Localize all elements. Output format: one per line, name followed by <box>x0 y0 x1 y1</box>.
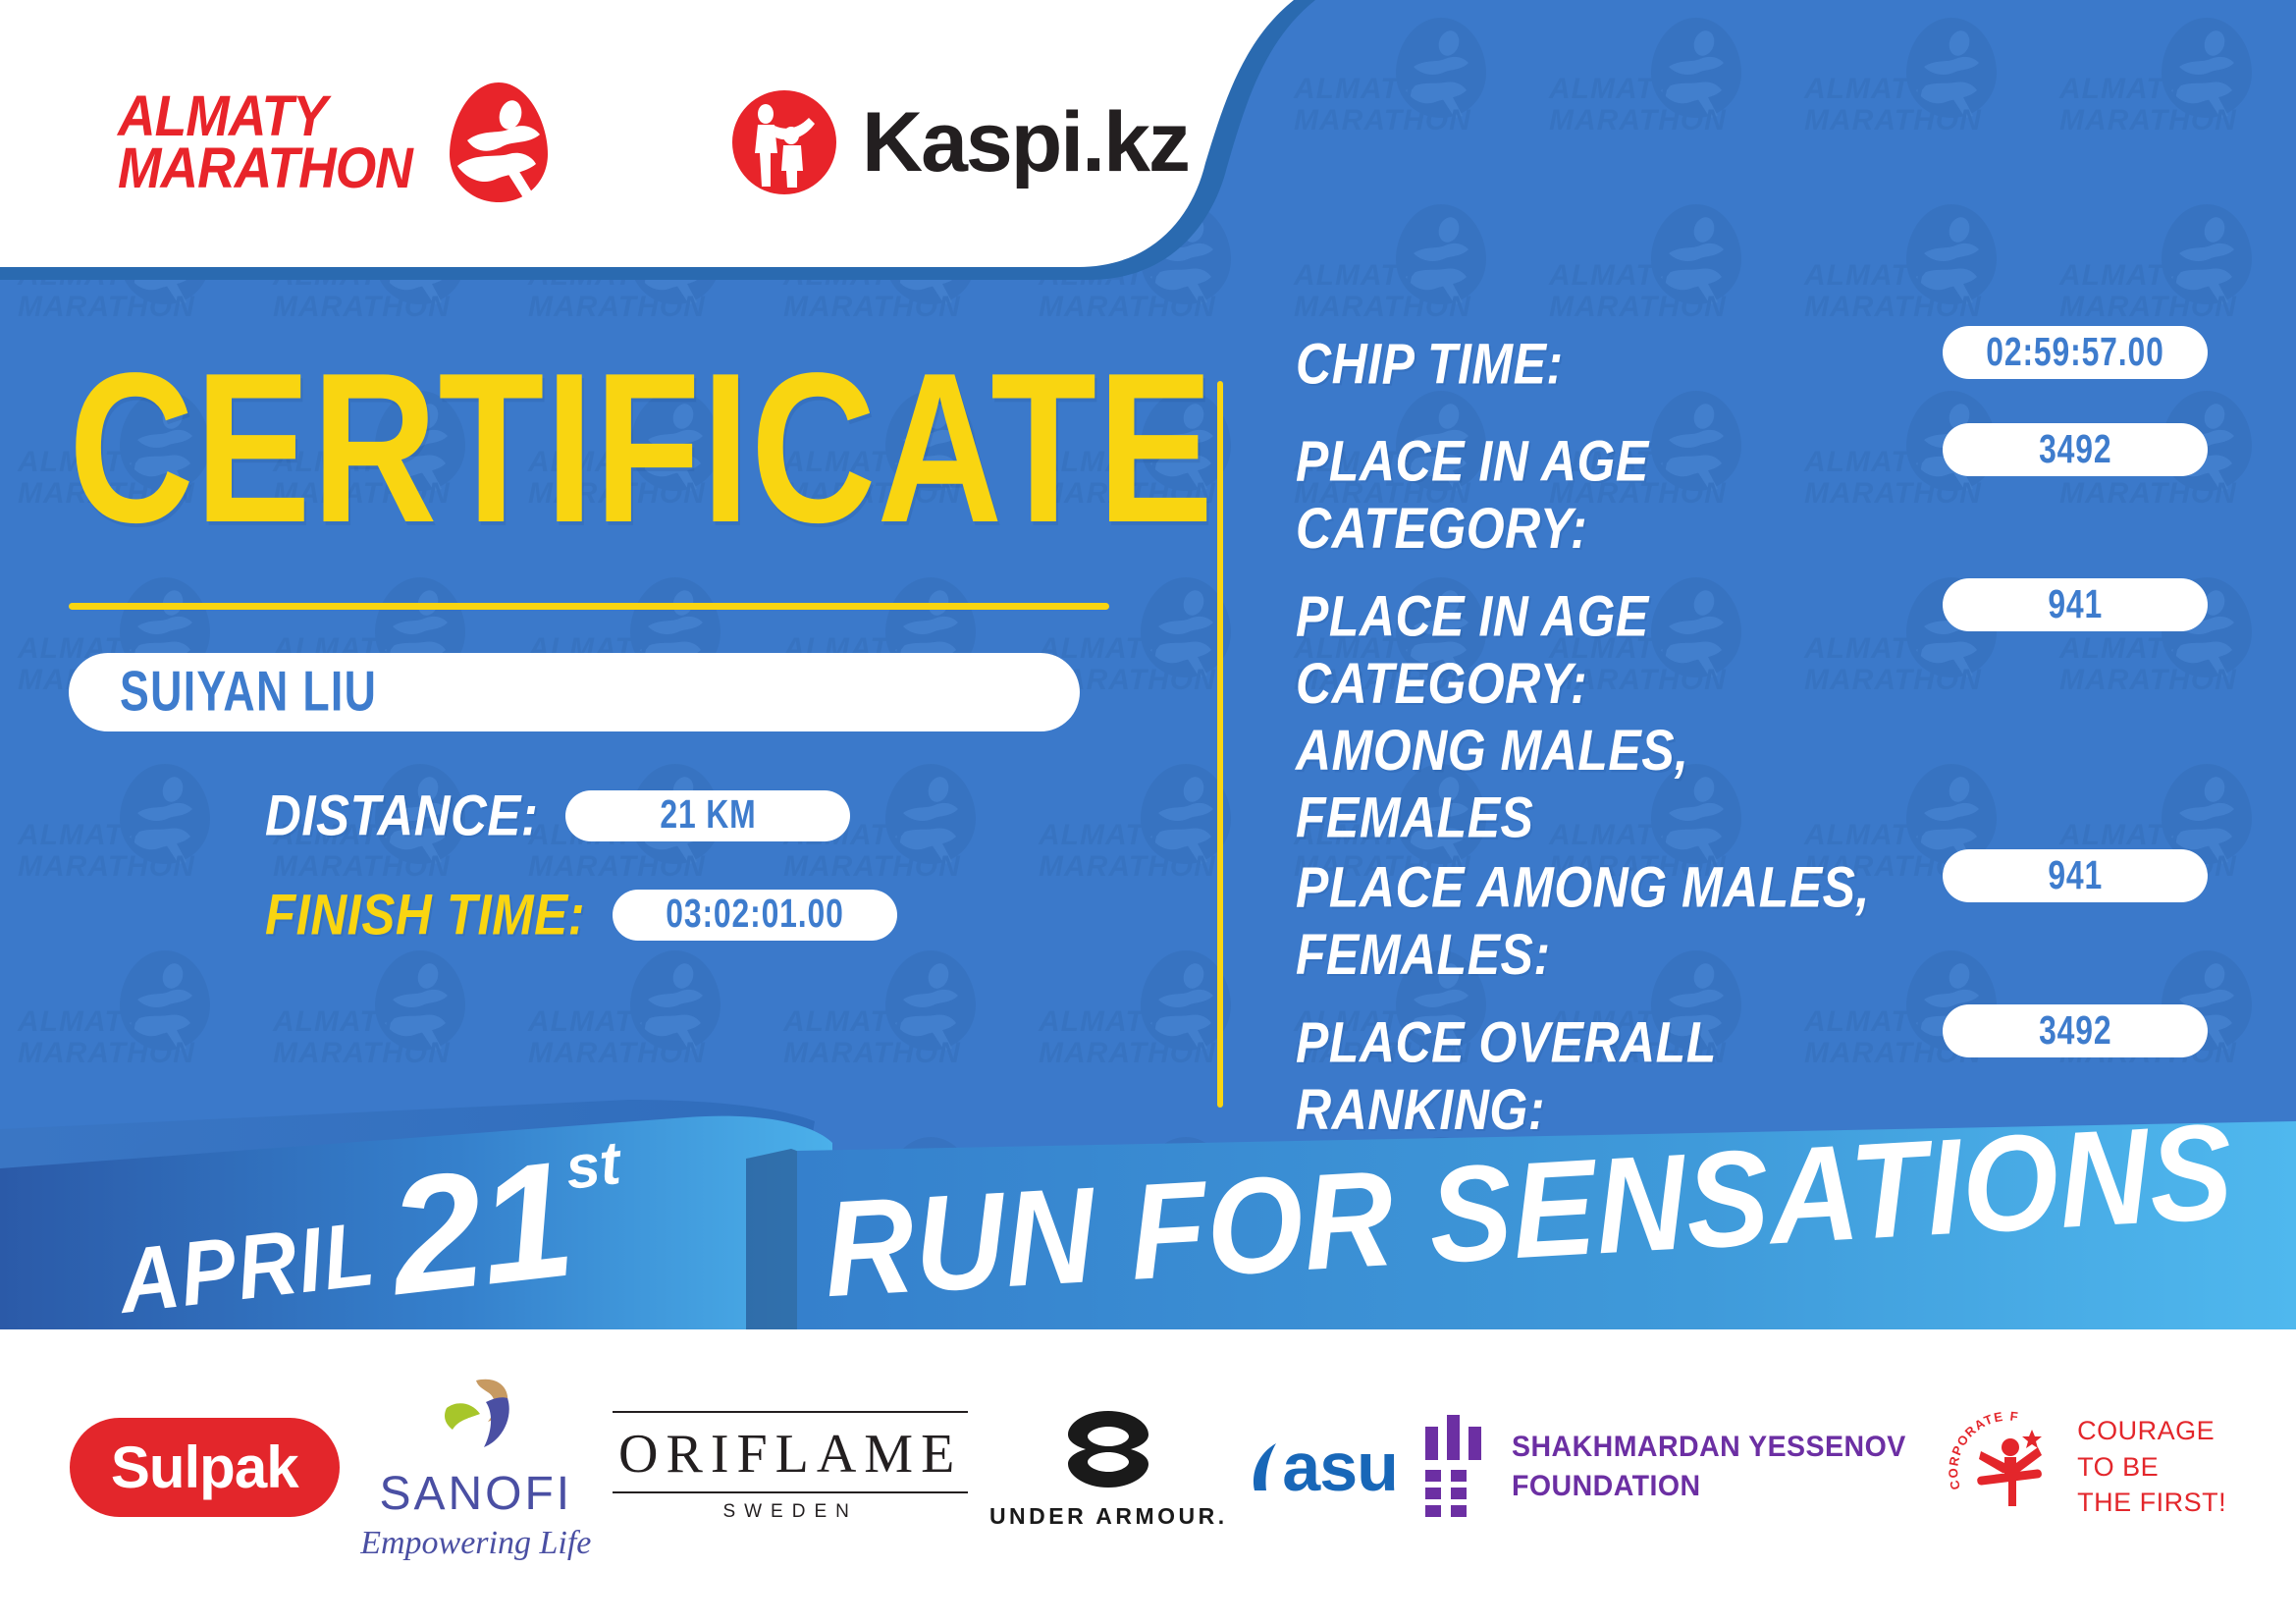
stat-row-place-age-category-gender: PLACE IN AGE CATEGORY: AMONG MALES, FEMA… <box>1296 576 2208 814</box>
sponsor-label-sanofi: SANOFI <box>379 1467 572 1521</box>
sponsor-logo-asu: asu <box>1249 1428 1398 1506</box>
courage-fund-icon: CORPORATE FUND <box>1948 1408 2065 1526</box>
kaspi-logo: Kaspi.kz <box>730 88 1189 196</box>
sponsor-logo-oriflame: ORIFLAME SWEDEN <box>613 1411 968 1523</box>
sponsor-label-sulpak: Sulpak <box>111 1434 298 1501</box>
stat-label-place-among-gender-line2: FEMALES: <box>1296 921 1870 988</box>
title-underline <box>69 603 1109 610</box>
sponsor-label-courage-line1: COURAGE <box>2077 1413 2226 1448</box>
stat-pill-place-among-gender: 941 <box>1943 849 2208 902</box>
yessenov-mark-icon <box>1419 1413 1490 1521</box>
stat-label-place-age-category: PLACE IN AGE CATEGORY: <box>1296 421 1919 563</box>
stat-value-place-age-category-gender: 941 <box>2048 582 2103 627</box>
stat-pill-place-overall: 3492 <box>1943 1004 2208 1057</box>
event-day: 21 <box>384 1149 578 1309</box>
stat-value-distance: 21 KM <box>660 792 756 838</box>
sanofi-mark-icon <box>431 1373 521 1463</box>
sponsor-label-yessenov-line1: SHAKHMARDAN YESSENOV <box>1512 1428 1906 1468</box>
under-armour-mark-icon <box>1035 1405 1182 1491</box>
stat-label-place-among-gender-line1: PLACE AMONG MALES, <box>1296 854 1870 921</box>
stat-value-place-age-category: 3492 <box>2039 427 2111 472</box>
stat-pill-place-age-category-gender: 941 <box>1943 578 2208 631</box>
certificate-body: CERTIFICATE SUIYAN LIU DISTANCE: 21 KM F… <box>0 295 2296 1119</box>
page-title: CERTIFICATE <box>69 342 1263 556</box>
right-column: CHIP TIME: 02:59:57.00 PLACE IN AGE CATE… <box>1217 295 2296 1119</box>
sponsor-logo-sulpak: Sulpak <box>70 1418 340 1517</box>
stat-value-place-overall: 3492 <box>2039 1008 2111 1054</box>
stat-pill-place-age-category: 3492 <box>1943 423 2208 476</box>
stat-row-place-among-gender: PLACE AMONG MALES, FEMALES: 941 <box>1296 847 2208 969</box>
stat-label-chip-time-line1: CHIP TIME: <box>1296 331 1564 398</box>
stat-pill-finish-time: 03:02:01.00 <box>613 890 897 941</box>
kaspi-family-icon <box>730 88 838 196</box>
event-date: APRIL 21 st <box>109 1128 633 1339</box>
sponsor-logo-yessenov: SHAKHMARDAN YESSENOV FOUNDATION <box>1419 1413 1927 1521</box>
stat-label-distance: DISTANCE: <box>265 783 538 848</box>
sponsor-logo-under-armour: UNDER ARMOUR. <box>989 1405 1228 1530</box>
sponsor-sub-oriflame: SWEDEN <box>722 1501 857 1523</box>
sponsor-label-yessenov-line2: FOUNDATION <box>1512 1467 1906 1507</box>
almaty-marathon-line2: MARATHON <box>118 142 412 194</box>
stat-label-chip-time: CHIP TIME: <box>1296 324 1564 398</box>
almaty-marathon-runner-icon <box>444 80 554 205</box>
sponsor-label-yessenov: SHAKHMARDAN YESSENOV FOUNDATION <box>1512 1428 1906 1507</box>
stat-row-finish-time: FINISH TIME: 03:02:01.00 <box>69 886 1217 944</box>
event-month: APRIL <box>114 1201 381 1334</box>
sponsor-logo-sanofi: SANOFI Empowering Life <box>360 1373 591 1562</box>
almaty-marathon-line1: ALMATY <box>118 90 412 142</box>
column-divider <box>1217 381 1223 1108</box>
left-column: CERTIFICATE SUIYAN LIU DISTANCE: 21 KM F… <box>0 295 1217 1119</box>
participant-name-value: SUIYAN LIU <box>120 660 377 725</box>
almaty-marathon-logo: ALMATY MARATHON <box>118 80 554 205</box>
sponsor-logo-courage: CORPORATE FUND COURAGE TO BE THE FIRST! <box>1948 1408 2226 1526</box>
sponsor-label-oriflame: ORIFLAME <box>613 1411 968 1493</box>
stat-value-finish-time: 03:02:01.00 <box>666 892 843 937</box>
sponsor-bar: Sulpak SANOFI Empowering Life ORIFLAME S… <box>0 1329 2296 1624</box>
almaty-marathon-wordmark: ALMATY MARATHON <box>118 90 438 195</box>
stat-label-finish-time: FINISH TIME: <box>265 882 585 947</box>
stat-label-place-age-category-gender: PLACE IN AGE CATEGORY: AMONG MALES, FEMA… <box>1296 576 1919 852</box>
kaspi-wordmark: Kaspi.kz <box>862 94 1189 191</box>
sponsor-label-courage: COURAGE TO BE THE FIRST! <box>2077 1413 2226 1520</box>
stat-label-place-age-category-line1: PLACE IN AGE CATEGORY: <box>1296 428 1919 563</box>
participant-name-field: SUIYAN LIU <box>69 653 1080 731</box>
left-stats-list: DISTANCE: 21 KM FINISH TIME: 03:02:01.00 <box>69 786 1217 944</box>
certificate-root: ALMATY MARATHON ALMATY MARATHON <box>0 0 2296 1624</box>
stat-pill-distance: 21 KM <box>565 790 850 841</box>
sponsor-tagline-sanofi: Empowering Life <box>360 1525 591 1562</box>
stat-row-place-age-category: PLACE IN AGE CATEGORY: 3492 <box>1296 421 2208 543</box>
sponsor-label-asu: asu <box>1282 1428 1398 1506</box>
sponsor-label-courage-line2: TO BE <box>2077 1449 2226 1485</box>
stat-value-chip-time: 02:59:57.00 <box>1986 330 2163 375</box>
stat-label-place-age-category-gender-line1: PLACE IN AGE CATEGORY: <box>1296 583 1919 718</box>
event-day-suffix: st <box>562 1128 624 1204</box>
sponsor-label-under-armour: UNDER ARMOUR. <box>989 1503 1228 1530</box>
stat-row-chip-time: CHIP TIME: 02:59:57.00 <box>1296 324 2208 388</box>
stat-label-place-age-category-gender-line2: AMONG MALES, FEMALES <box>1296 718 1919 852</box>
stat-row-distance: DISTANCE: 21 KM <box>69 786 1217 844</box>
stat-pill-chip-time: 02:59:57.00 <box>1943 326 2208 379</box>
stat-value-place-among-gender: 941 <box>2048 853 2103 898</box>
stat-label-place-among-gender: PLACE AMONG MALES, FEMALES: <box>1296 847 1870 989</box>
header-logos: ALMATY MARATHON Kaspi.kz <box>0 0 1178 285</box>
sponsor-label-courage-line3: THE FIRST! <box>2077 1485 2226 1520</box>
